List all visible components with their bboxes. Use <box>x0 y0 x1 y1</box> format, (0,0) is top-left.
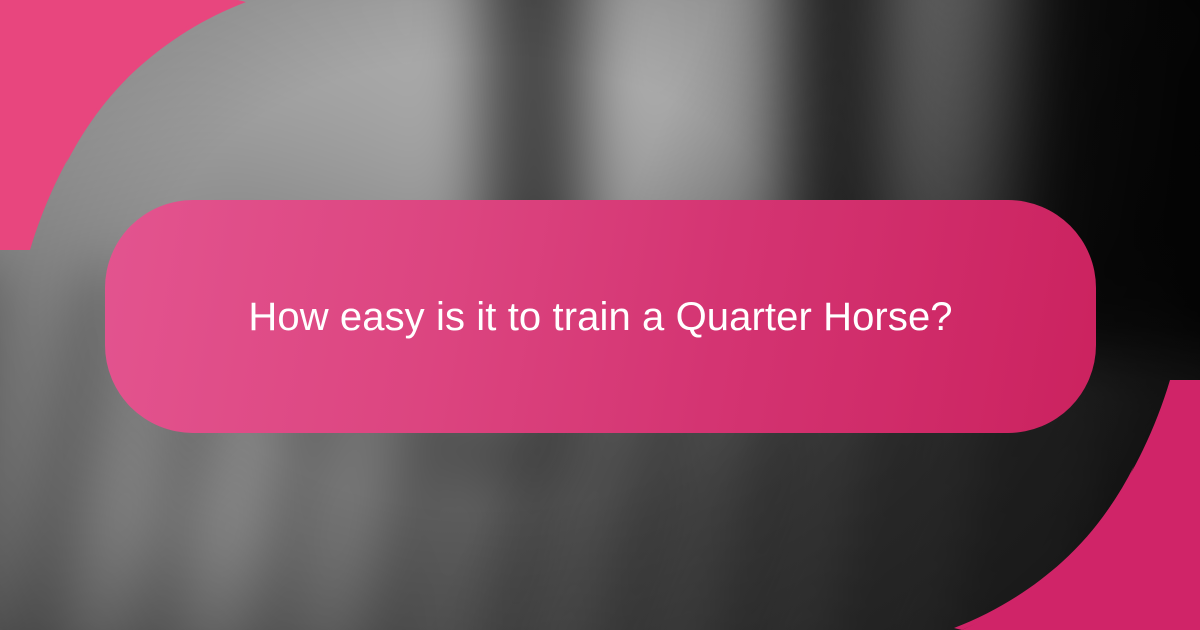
question-text: How easy is it to train a Quarter Horse? <box>248 292 952 342</box>
question-card: How easy is it to train a Quarter Horse? <box>0 0 1200 630</box>
question-banner: How easy is it to train a Quarter Horse? <box>105 200 1096 433</box>
